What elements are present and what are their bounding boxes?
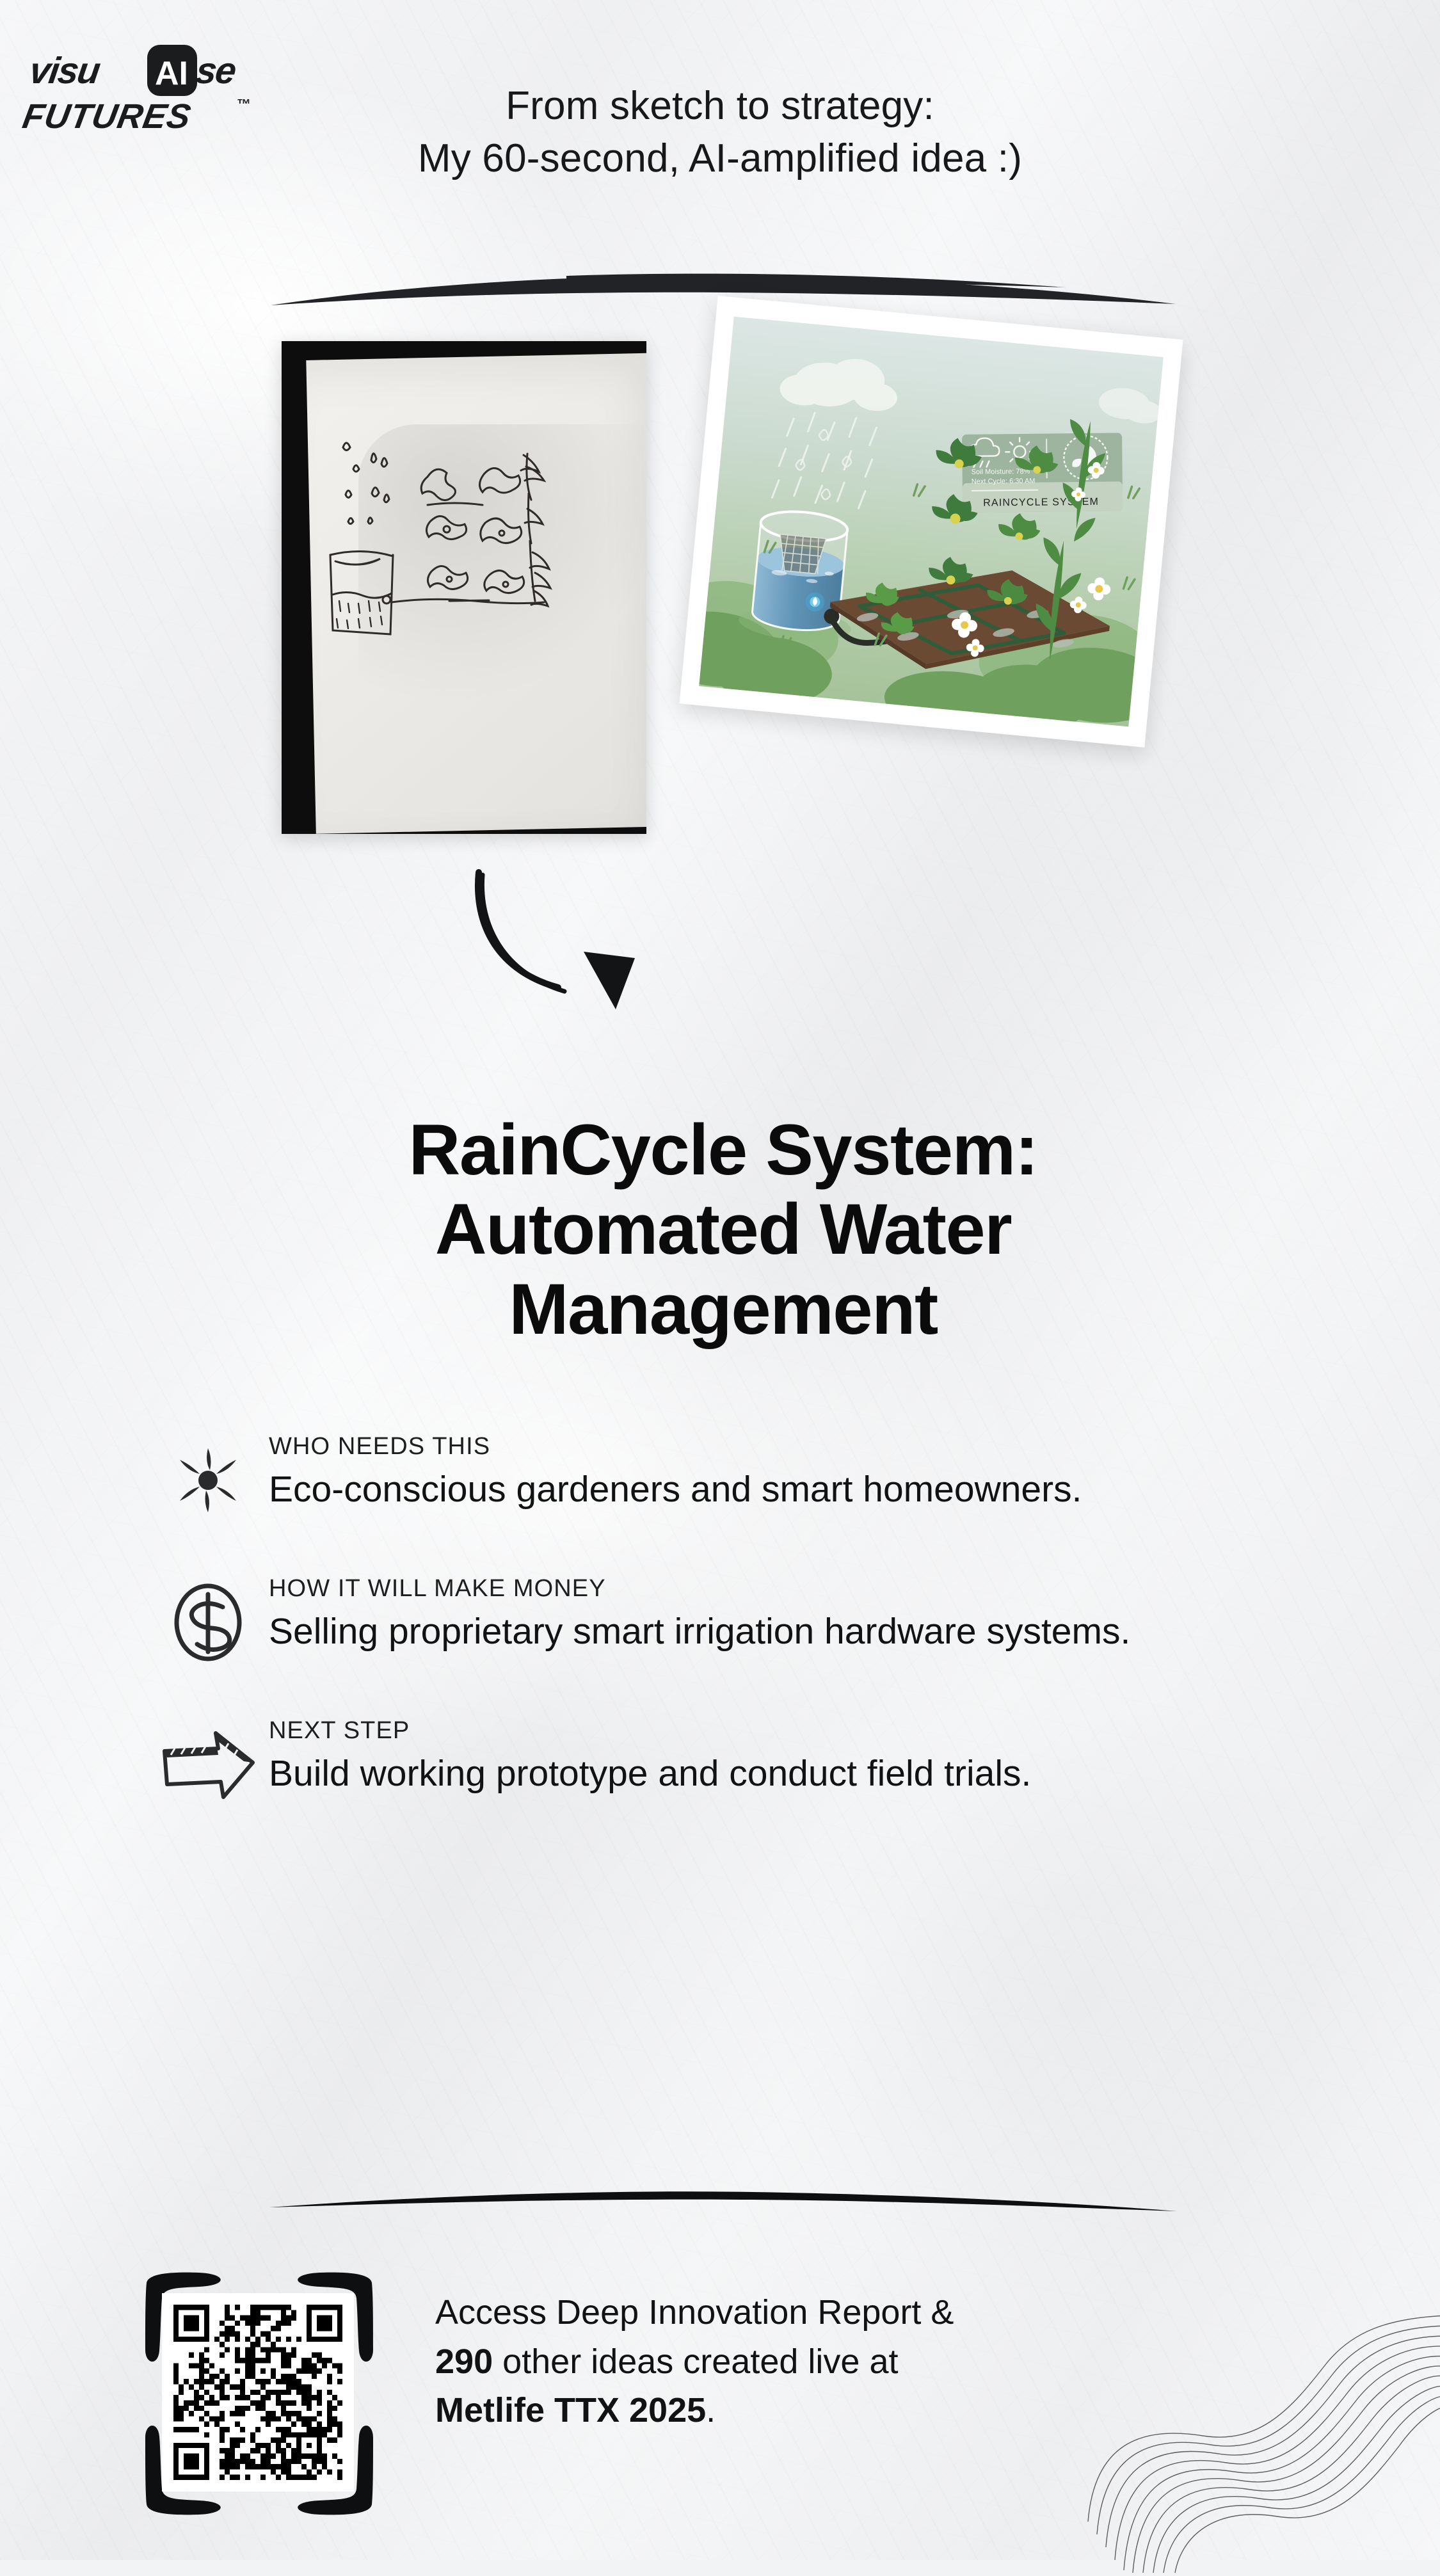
ai-illustration-polaroid: Soil Moisture: 78% Next Cycle: 6:30 AM R…	[680, 296, 1183, 748]
info-text-1: Selling proprietary smart irrigation har…	[269, 1608, 1286, 1655]
info-label-2: NEXT STEP	[269, 1717, 1318, 1745]
footer-period: .	[706, 2391, 716, 2429]
info-text-0: Eco-conscious gardeners and smart homeow…	[269, 1466, 1286, 1513]
qr-block[interactable]	[138, 2269, 381, 2518]
footer-idea-count: 290	[435, 2342, 493, 2381]
flow-arrow-icon	[442, 835, 698, 1046]
header-line-1: From sketch to strategy:	[0, 80, 1440, 132]
info-row-next-step: NEXT STEP Build working prototype and co…	[147, 1708, 1318, 1817]
sketch-photo	[282, 341, 646, 834]
stat-soil-moisture: Soil Moisture: 78%	[972, 468, 1030, 476]
stat-next-cycle: Next Cycle: 6:30 AM	[972, 477, 1036, 486]
footer-line-2-rest: other ideas created live at	[493, 2342, 898, 2381]
footer-event-name: Metlife TTX 2025	[435, 2391, 706, 2429]
footer-line-2: 290 other ideas created live at	[435, 2337, 1354, 2387]
footer: Access Deep Innovation Report & 290 othe…	[138, 2269, 1354, 2518]
info-label-1: HOW IT WILL MAKE MONEY	[269, 1575, 1318, 1603]
info-body-how-it-will-make-money: HOW IT WILL MAKE MONEY Selling proprieta…	[269, 1566, 1318, 1655]
header-line-2: My 60-second, AI-amplified idea :)	[0, 132, 1440, 185]
divider-bottom	[266, 2166, 1181, 2218]
ai-illustration: Soil Moisture: 78% Next Cycle: 6:30 AM R…	[699, 317, 1164, 727]
info-body-next-step: NEXT STEP Build working prototype and co…	[269, 1708, 1318, 1797]
sketch-ink-drawing	[282, 341, 646, 834]
qr-code[interactable]	[162, 2293, 354, 2492]
info-row-how-it-will-make-money: HOW IT WILL MAKE MONEY Selling proprieta…	[147, 1566, 1318, 1675]
info-body-who-needs-this: WHO NEEDS THIS Eco-conscious gardeners a…	[269, 1424, 1318, 1513]
info-row-who-needs-this: WHO NEEDS THIS Eco-conscious gardeners a…	[147, 1424, 1318, 1533]
idea-title-line-1: RainCycle System:	[192, 1110, 1254, 1190]
dollar-circle-icon	[147, 1566, 269, 1675]
footer-line-1: Access Deep Innovation Report &	[435, 2288, 1354, 2337]
idea-title: RainCycle System: Automated Water Manage…	[192, 1110, 1254, 1349]
footer-line-3: Metlife TTX 2025.	[435, 2386, 1354, 2435]
idea-title-line-3: Management	[192, 1270, 1254, 1349]
footer-text: Access Deep Innovation Report & 290 othe…	[381, 2269, 1354, 2435]
info-sections: WHO NEEDS THIS Eco-conscious gardeners a…	[147, 1424, 1318, 1817]
info-text-2: Build working prototype and conduct fiel…	[269, 1750, 1286, 1797]
arrow-right-block-icon	[147, 1708, 269, 1817]
idea-title-line-2: Automated Water	[192, 1190, 1254, 1269]
info-label-0: WHO NEEDS THIS	[269, 1433, 1318, 1460]
header: From sketch to strategy: My 60-second, A…	[0, 80, 1440, 186]
sparkle-sun-icon	[147, 1424, 269, 1533]
